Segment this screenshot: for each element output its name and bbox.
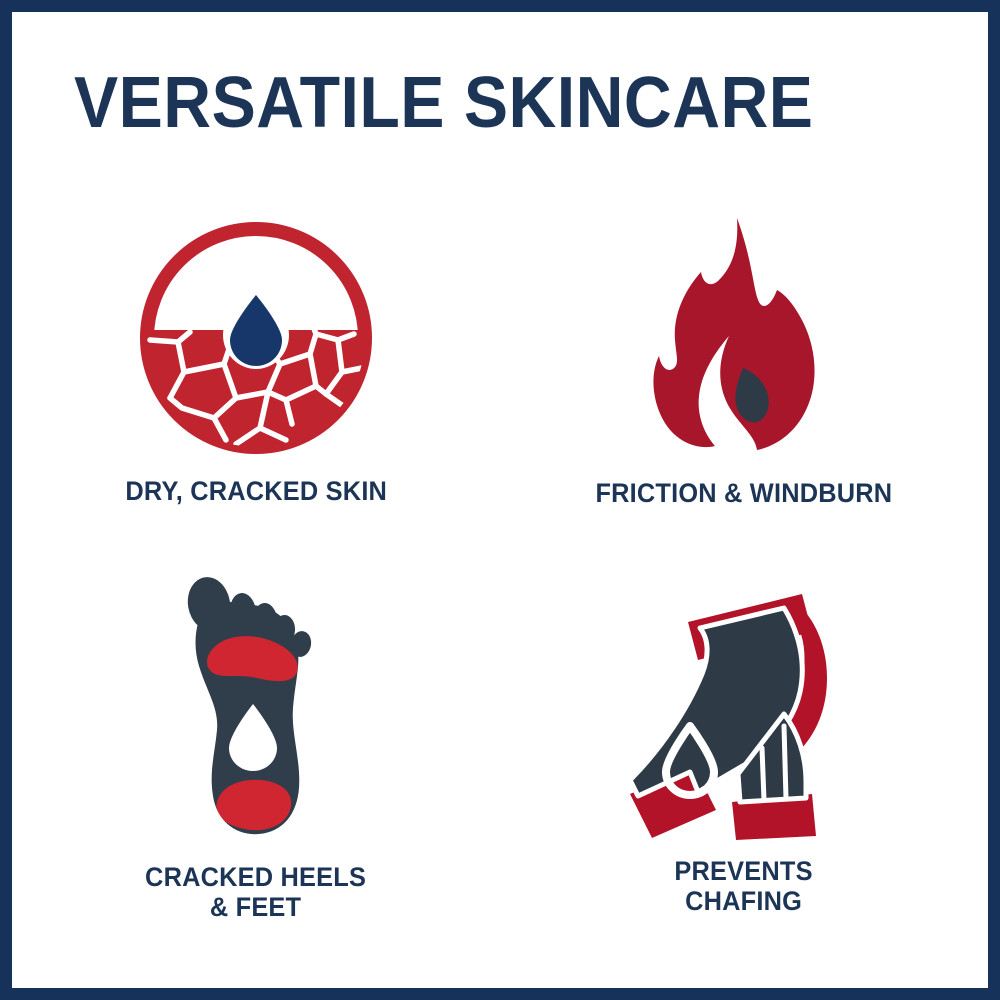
water-droplet-icon (230, 295, 282, 366)
feature-item-dry-cracked-skin: DRY, CRACKED SKIN (12, 192, 500, 572)
poster-frame: VERSATILE SKINCARE (0, 0, 1000, 1000)
label-line: DRY, CRACKED SKIN (125, 476, 387, 506)
feature-label-friction-windburn: FRICTION & WINDBURN (596, 478, 893, 508)
label-line: & FEET (145, 892, 366, 922)
label-line: FRICTION & WINDBURN (596, 478, 893, 508)
label-line: CRACKED HEELS (145, 862, 366, 892)
shorts-icon (616, 578, 872, 840)
label-line: CHAFING (675, 886, 813, 916)
feature-item-cracked-heels-feet: CRACKED HEELS & FEET (12, 572, 500, 952)
feature-item-prevents-chafing: PREVENTS CHAFING (500, 572, 988, 952)
feature-item-friction-windburn: FRICTION & WINDBURN (500, 192, 988, 572)
poster-canvas: VERSATILE SKINCARE (12, 12, 988, 988)
footprint-icon (161, 574, 351, 844)
page-title: VERSATILE SKINCARE (74, 64, 884, 142)
flame-icon (619, 210, 869, 460)
feature-label-prevents-chafing: PREVENTS CHAFING (675, 856, 813, 916)
feature-grid: DRY, CRACKED SKIN FRICTION & WINDBURN (12, 192, 988, 952)
feature-label-cracked-heels-feet: CRACKED HEELS & FEET (145, 862, 366, 922)
label-line: PREVENTS (675, 856, 813, 886)
cracked-skin-circle-icon (140, 222, 372, 454)
feature-label-dry-cracked-skin: DRY, CRACKED SKIN (125, 476, 387, 506)
